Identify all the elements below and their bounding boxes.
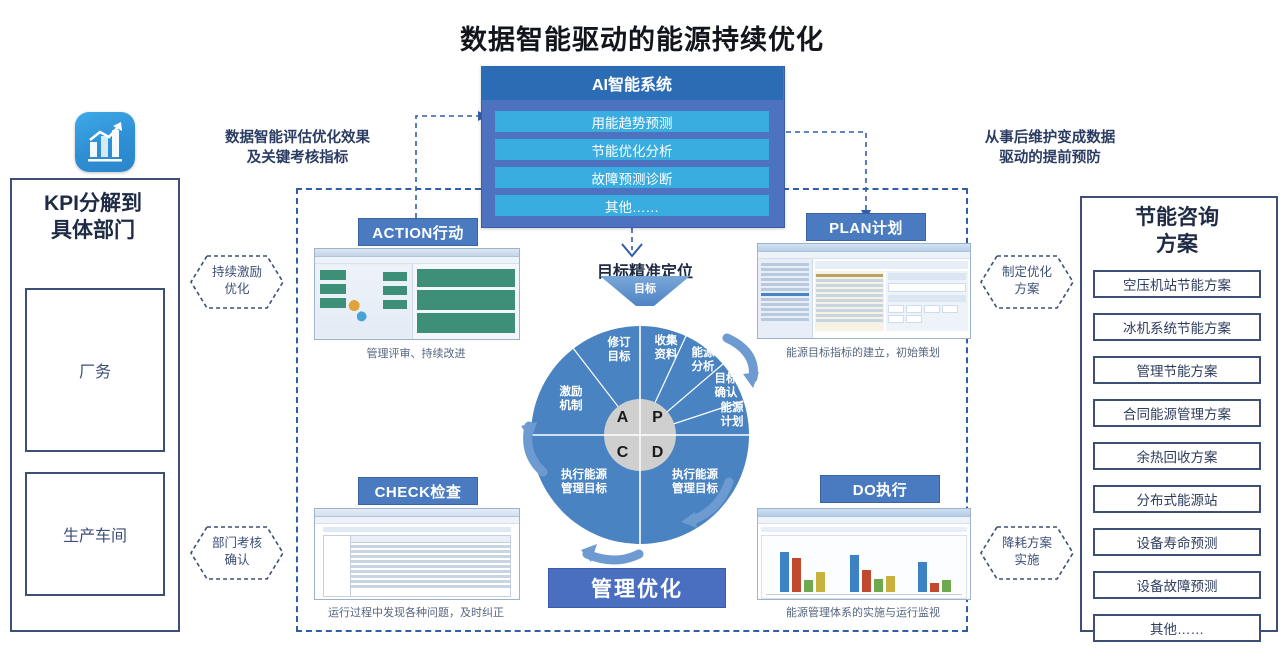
chevron-label: 部门考核 确认 — [189, 535, 285, 569]
chevron-label: 降耗方案 实施 — [979, 535, 1075, 569]
screenshot-do — [757, 508, 971, 600]
caption-action: 管理评审、持续改进 — [300, 345, 532, 361]
screenshot-action — [314, 248, 520, 340]
ai-system-header: AI智能系统 — [481, 66, 783, 100]
chevron-label-line2: 优化 — [189, 281, 285, 298]
chevron-label-line2: 方案 — [979, 281, 1075, 298]
chevron-consumption-reduction: 降耗方案 实施 — [979, 523, 1075, 583]
chevron-label-line1: 持续激励 — [189, 264, 285, 281]
chevron-continuous-incentive: 持续激励 优化 — [189, 252, 285, 312]
chevron-label-line1: 制定优化 — [979, 264, 1075, 281]
stage-label-check[interactable]: CHECK检查 — [358, 477, 478, 505]
annotation-left: 数据智能评估优化效果 及关键考核指标 — [205, 128, 390, 168]
chevron-label-line1: 降耗方案 — [979, 535, 1075, 552]
chevron-label-line2: 实施 — [979, 552, 1075, 569]
caption-plan: 能源目标指标的建立，初始策划 — [745, 344, 981, 360]
management-optimization-box: 管理优化 — [548, 568, 726, 608]
wheel-rotation-arrows — [505, 300, 775, 580]
chevron-label: 制定优化 方案 — [979, 264, 1075, 298]
chevron-department-assessment: 部门考核 确认 — [189, 523, 285, 583]
ai-system-item-list: 用能趋势预测 节能优化分析 故障预测诊断 其他…… — [495, 111, 769, 223]
annotation-left-line2: 及关键考核指标 — [205, 148, 390, 168]
screenshot-plan — [757, 243, 971, 339]
chevron-label-line2: 确认 — [189, 552, 285, 569]
screenshot-check — [314, 508, 520, 600]
caption-do: 能源管理体系的实施与运行监视 — [745, 604, 981, 620]
caption-check: 运行过程中发现各种问题，及时纠正 — [300, 604, 532, 620]
annotation-right-line1: 从事后维护变成数据 — [955, 128, 1145, 148]
chevron-label: 持续激励 优化 — [189, 264, 285, 298]
chevron-optimization-plan: 制定优化 方案 — [979, 252, 1075, 312]
ai-item-fault-prediction-diagnosis[interactable]: 故障预测诊断 — [495, 167, 769, 188]
annotation-right-line2: 驱动的提前预防 — [955, 148, 1145, 168]
funnel-label: 目标 — [600, 280, 690, 296]
chevron-label-line1: 部门考核 — [189, 535, 285, 552]
ai-item-other[interactable]: 其他…… — [495, 195, 769, 216]
stage-label-do[interactable]: DO执行 — [820, 475, 940, 503]
ai-item-saving-optimization-analysis[interactable]: 节能优化分析 — [495, 139, 769, 160]
annotation-right: 从事后维护变成数据 驱动的提前预防 — [955, 128, 1145, 168]
stage-label-action[interactable]: ACTION行动 — [358, 218, 478, 246]
stage-label-plan[interactable]: PLAN计划 — [806, 213, 926, 241]
annotation-left-line1: 数据智能评估优化效果 — [205, 128, 390, 148]
ai-item-energy-trend-forecast[interactable]: 用能趋势预测 — [495, 111, 769, 132]
